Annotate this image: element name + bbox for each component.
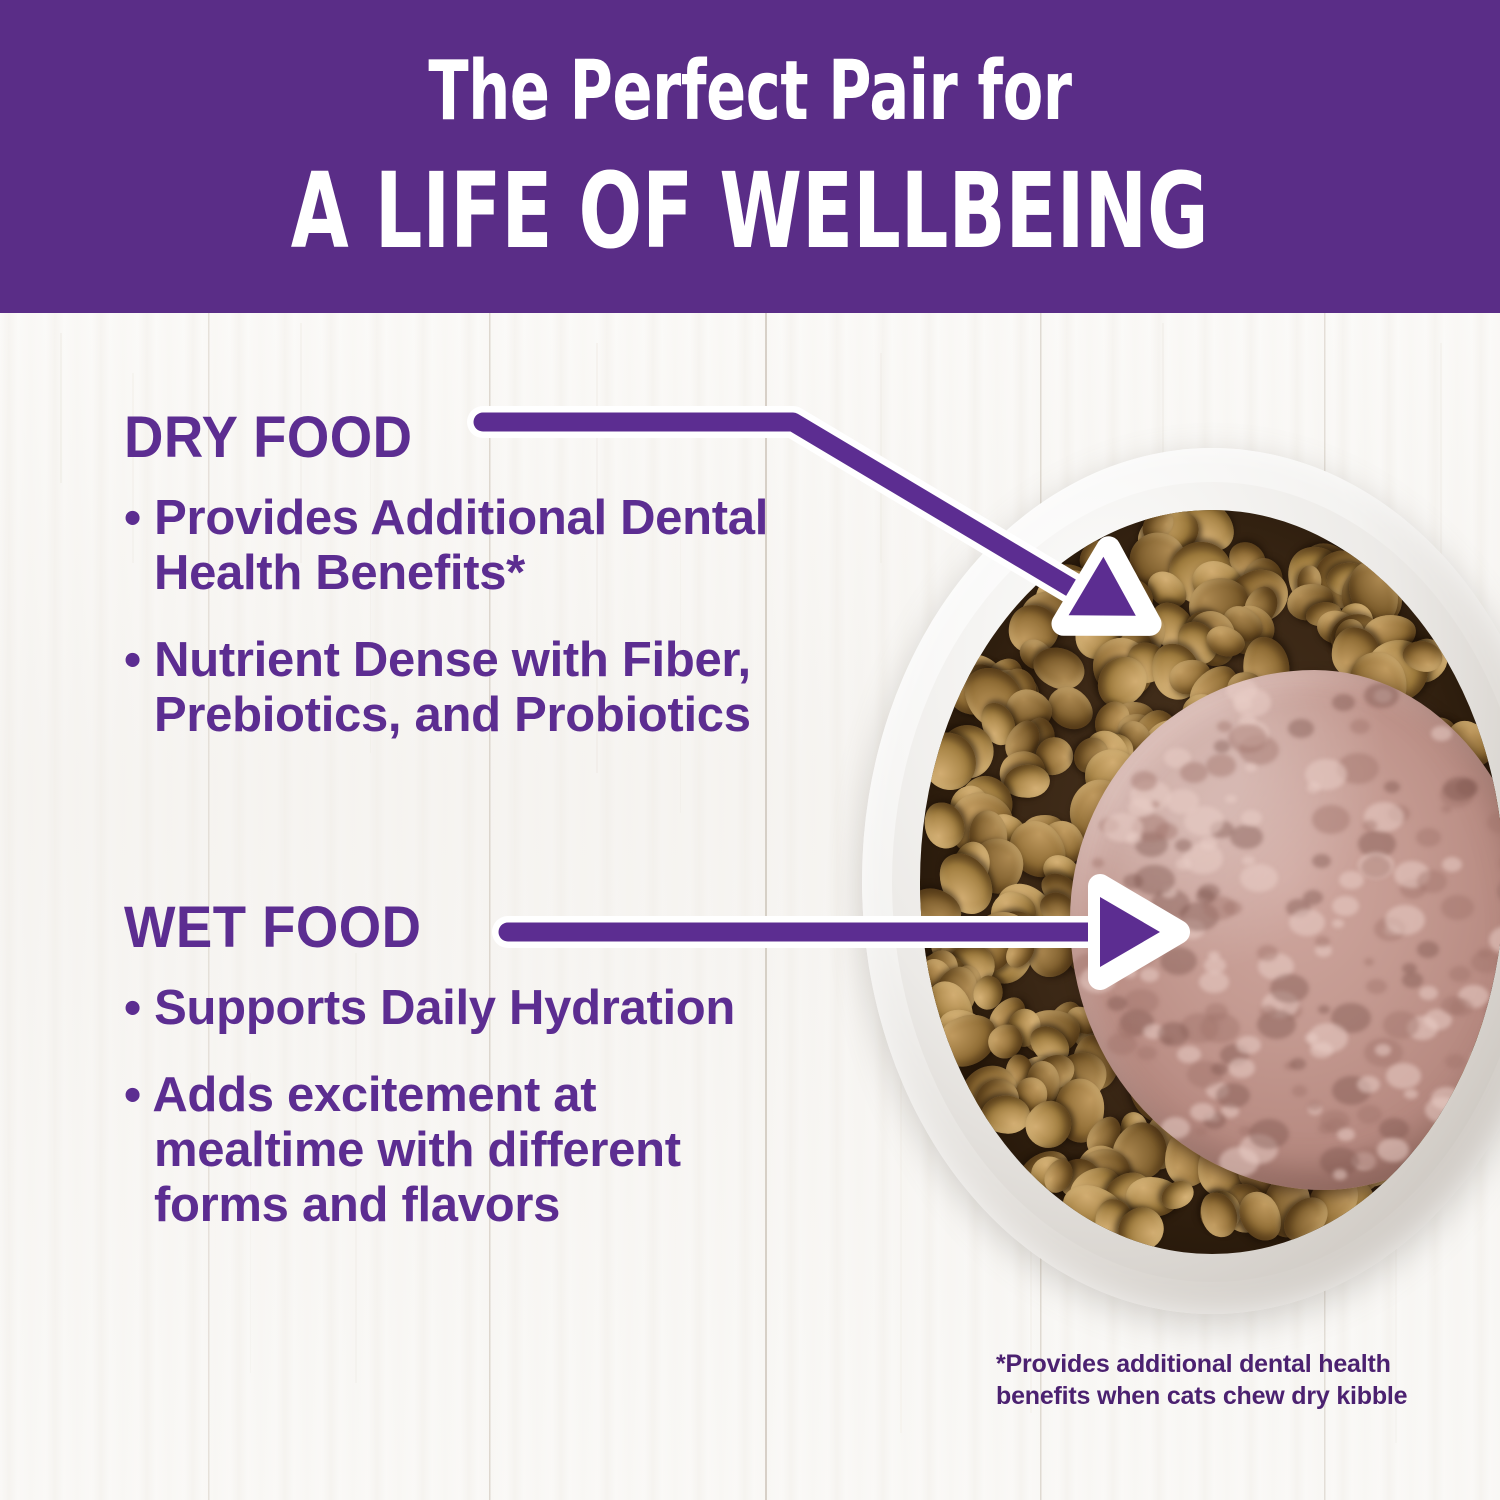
footnote-text: *Provides additional dental health benef… (996, 1348, 1436, 1412)
infographic-canvas: The Perfect Pair for A LIFE OF WELLBEING… (0, 0, 1500, 1500)
benefits-copy: DRY FOOD • Provides Additional Dental He… (0, 313, 820, 1500)
header-title-line-1: The Perfect Pair for (428, 51, 1071, 133)
bowl-interior (920, 510, 1500, 1254)
section-heading-dry-food: DRY FOOD (124, 409, 413, 467)
bullet-list-dry-food: • Provides Additional Dental Health Bene… (124, 491, 804, 743)
list-item: • Nutrient Dense with Fiber, Prebiotics,… (124, 633, 804, 743)
section-heading-wet-food: WET FOOD (124, 899, 422, 957)
pet-food-bowl-image (862, 448, 1500, 1328)
list-item: • Adds excitement at mealtime with diffe… (124, 1068, 804, 1233)
header-title-line-2: A LIFE OF WELLBEING (291, 159, 1209, 263)
list-item: • Provides Additional Dental Health Bene… (124, 491, 804, 601)
list-item: • Supports Daily Hydration (124, 981, 804, 1036)
bullet-list-wet-food: • Supports Daily Hydration • Adds excite… (124, 981, 804, 1233)
header-banner: The Perfect Pair for A LIFE OF WELLBEING (0, 0, 1500, 313)
